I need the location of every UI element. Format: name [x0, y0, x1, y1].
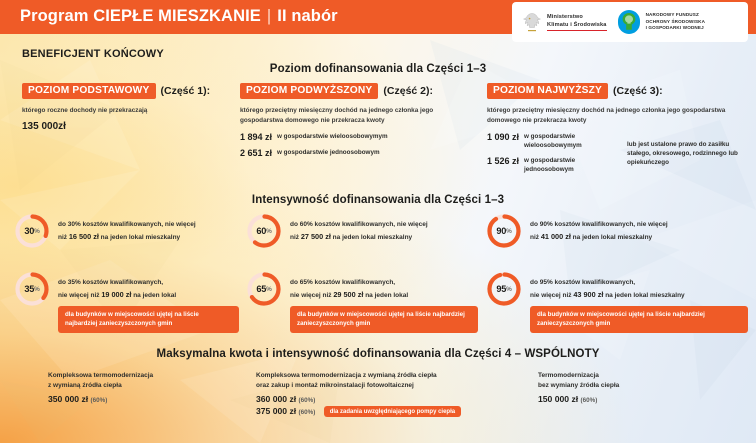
levels-heading: Poziom dofinansowania dla Części 1–3 — [0, 63, 756, 75]
intensity-item: 30% do 30% kosztów kwalifikowanych, nie … — [14, 213, 239, 249]
intensity-text: do 95% kosztów kwalifikowanych, nie więc… — [530, 271, 748, 333]
level-amount-value: 1 090 zł — [487, 132, 519, 142]
intensity-line-2-post: na jeden lokal mieszkalny — [571, 234, 652, 241]
level-amount-value: 1 526 zł — [487, 156, 519, 166]
part4-amount-value: 360 000 zł — [256, 394, 296, 404]
part4-amount-value: 150 000 zł — [538, 394, 578, 404]
part4-amount-row: 375 000 zł (60%) dla zadania uwzględniaj… — [256, 406, 496, 418]
intensity-line-2-post: na jeden lokal mieszkalny — [331, 234, 412, 241]
part4-block-2: Kompleksowa termomodernizacja z wymianą … — [256, 371, 496, 417]
ring-label: 90% — [486, 213, 522, 249]
logo-panel: Ministerstwo Klimatu i Środowiska NARODO… — [512, 2, 748, 42]
ring-label: 65% — [246, 271, 282, 307]
level-badge-raised: POZIOM PODWYŻSZONY — [240, 83, 378, 100]
part4-desc-line-2: z wymianą źródła ciepła — [48, 382, 122, 389]
ring-value: 90 — [496, 226, 506, 236]
part4-amount-percent: (60%) — [299, 397, 316, 404]
intensity-callout: dla budynków w miejscowości ujętej na li… — [58, 306, 239, 333]
ring-suffix: % — [266, 228, 271, 235]
ministry-logo-text: Ministerstwo Klimatu i Środowiska — [547, 13, 607, 32]
part4-amount-percent: (60%) — [91, 397, 108, 404]
nfosigw-line-1: NARODOWY FUNDUSZ — [646, 12, 706, 19]
part4-desc-line-2: oraz zakup i montaż mikroinstalacji foto… — [256, 382, 414, 389]
intensity-column-highest: 90% do 90% kosztów kwalifikowanych, nie … — [486, 213, 748, 333]
intensity-item: 60% do 60% kosztów kwalifikowanych, nie … — [246, 213, 478, 249]
ministry-line-1: Ministerstwo — [547, 13, 607, 21]
intensity-line-1: do 90% kosztów kwalifikowanych, nie więc… — [530, 221, 668, 228]
part4-amount-row: 350 000 zł (60%) — [48, 394, 238, 404]
part4-amount-value: 350 000 zł — [48, 394, 88, 404]
intensity-line-2-post: na jeden lokal mieszkalny — [603, 292, 684, 299]
ring-value: 30 — [24, 226, 34, 236]
ring-value: 60 — [256, 226, 266, 236]
intensity-amount: 43 900 zł — [573, 290, 603, 299]
nfosigw-line-3: I GOSPODARKI WODNEJ — [646, 25, 706, 32]
level-card-basic: POZIOM PODSTAWOWY(Część 1): którego rocz… — [22, 82, 237, 132]
ring-label: 95% — [486, 271, 522, 307]
intensity-line-2-post: na jeden lokal — [131, 292, 176, 299]
level-part-raised: (Część 2): — [383, 85, 433, 97]
level-amount-note: w gospodarstwie jednoosobowym — [277, 148, 380, 157]
part4-heading: Maksymalna kwota i intensywność dofinans… — [0, 348, 756, 360]
intensity-line-2-pre: nie więcej niż — [530, 292, 573, 299]
level-amount-note: w gospodarstwie jednoosobowym — [524, 156, 615, 174]
intensity-line-1: do 60% kosztów kwalifikowanych, nie więc… — [290, 221, 428, 228]
level-badge-highest: POZIOM NAJWYŻSZY — [487, 83, 608, 100]
ring-label: 60% — [246, 213, 282, 249]
intensity-item: 90% do 90% kosztów kwalifikowanych, nie … — [486, 213, 748, 249]
level-amount-basic: 135 000zł — [22, 121, 237, 132]
level-amount-value: 1 894 zł — [240, 132, 272, 142]
intensity-text: do 65% kosztów kwalifikowanych, nie więc… — [290, 271, 478, 333]
part4-amount-row: 150 000 zł (60%) — [538, 394, 728, 404]
ring-value: 65 — [256, 284, 266, 294]
ring-suffix: % — [34, 286, 39, 293]
level-part-basic: (Część 1): — [161, 85, 211, 97]
level-extra-highest: lub jest ustalone prawo do zasiłku stałe… — [627, 126, 749, 175]
progress-ring-90: 90% — [486, 213, 522, 249]
part4-desc: Kompleksowa termomodernizacja z wymianą … — [48, 371, 238, 392]
level-amount-row: 2 651 zł w gospodarstwie jednoosobowym — [240, 148, 472, 158]
intensity-amount: 27 500 zł — [301, 232, 331, 241]
level-part-highest: (Część 3): — [613, 85, 663, 97]
level-amount-row: 1 894 zł w gospodarstwie wieloosobowymym — [240, 132, 472, 142]
intensity-line-2-pre: niż — [58, 234, 69, 241]
level-card-raised: POZIOM PODWYŻSZONY(Część 2): którego prz… — [240, 82, 472, 158]
intensity-line-2-post: na jeden lokal — [363, 292, 408, 299]
intensity-amount: 16 500 zł — [69, 232, 99, 241]
level-lede-highest: którego przeciętny miesięczny dochód na … — [487, 106, 749, 126]
part4-desc-line-1: Kompleksowa termomodernizacja z wymianą … — [256, 372, 437, 379]
nfosigw-logo-text: NARODOWY FUNDUSZ OCHRONY ŚRODOWISKA I GO… — [646, 12, 706, 32]
progress-ring-60: 60% — [246, 213, 282, 249]
ring-label: 35% — [14, 271, 50, 307]
part4-desc: Termomodernizacja bez wymiany źródła cie… — [538, 371, 728, 392]
nfosigw-logo-unit: NARODOWY FUNDUSZ OCHRONY ŚRODOWISKA I GO… — [617, 9, 706, 35]
page-title-suffix: II nabór — [277, 7, 337, 25]
part4-desc-line-1: Kompleksowa termomodernizacja — [48, 372, 153, 379]
part4-block-1: Kompleksowa termomodernizacja z wymianą … — [48, 371, 238, 404]
intensity-line-1: do 65% kosztów kwalifikowanych, — [290, 279, 395, 286]
progress-ring-35: 35% — [14, 271, 50, 307]
ministry-logo-unit: Ministerstwo Klimatu i Środowiska — [522, 11, 607, 33]
ring-label: 30% — [14, 213, 50, 249]
intensity-item: 65% do 65% kosztów kwalifikowanych, nie … — [246, 271, 478, 333]
level-amount-note: w gospodarstwie wieloosobowymym — [277, 132, 388, 141]
intensity-amount: 41 000 zł — [541, 232, 571, 241]
beneficiary-heading: BENEFICJENT KOŃCOWY — [22, 48, 164, 60]
part4-amount-tag: dla zadania uwzględniającego pompy ciepł… — [324, 406, 461, 417]
intensity-text: do 35% kosztów kwalifikowanych, nie więc… — [58, 271, 239, 333]
part4-desc: Kompleksowa termomodernizacja z wymianą … — [256, 371, 496, 392]
page-title-main: Program CIEPŁE MIESZKANIE — [20, 7, 261, 25]
level-card-highest: POZIOM NAJWYŻSZY(Część 3): którego przec… — [487, 82, 749, 174]
nfosigw-tree-icon — [617, 9, 641, 35]
progress-ring-30: 30% — [14, 213, 50, 249]
intensity-heading: Intensywność dofinansowania dla Części 1… — [0, 194, 756, 206]
intensity-line-2-pre: nie więcej niż — [290, 292, 333, 299]
progress-ring-65: 65% — [246, 271, 282, 307]
intensity-line-2-post: na jeden lokal mieszkalny — [99, 234, 180, 241]
intensity-text: do 60% kosztów kwalifikowanych, nie więc… — [290, 213, 428, 243]
intensity-line-2-pre: nie więcej niż — [58, 292, 101, 299]
intensity-callout: dla budynków w miejscowości ujętej na li… — [530, 306, 748, 333]
level-badge-basic: POZIOM PODSTAWOWY — [22, 83, 156, 100]
level-amount-row: 1 526 zł w gospodarstwie jednoosobowym — [487, 156, 615, 174]
polish-eagle-icon — [522, 11, 542, 33]
ministry-line-2: Klimatu i Środowiska — [547, 21, 607, 29]
intensity-line-2-pre: niż — [290, 234, 301, 241]
intensity-amount: 29 500 zł — [333, 290, 363, 299]
ring-value: 35 — [24, 284, 34, 294]
level-lede-basic: którego roczne dochody nie przekraczają — [22, 106, 237, 116]
part4-block-3: Termomodernizacja bez wymiany źródła cie… — [538, 371, 728, 404]
part4-desc-line-2: bez wymiany źródła ciepła — [538, 382, 619, 389]
ring-value: 95 — [496, 284, 506, 294]
intensity-column-raised: 60% do 60% kosztów kwalifikowanych, nie … — [246, 213, 478, 333]
level-amount-note: w gospodarstwie wieloosobowymym — [524, 132, 615, 150]
part4-desc-line-1: Termomodernizacja — [538, 372, 599, 379]
title-separator: | — [261, 7, 277, 26]
intensity-item: 95% do 95% kosztów kwalifikowanych, nie … — [486, 271, 748, 333]
ring-suffix: % — [506, 228, 511, 235]
ring-suffix: % — [266, 286, 271, 293]
ring-suffix: % — [506, 286, 511, 293]
part4-amount-percent: (60%) — [299, 409, 316, 416]
infographic-poster: Program CIEPŁE MIESZKANIE|II nabór Minis… — [0, 0, 756, 443]
level-lede-raised: którego przeciętny miesięczny dochód na … — [240, 106, 472, 126]
ring-suffix: % — [34, 228, 39, 235]
intensity-item: 35% do 35% kosztów kwalifikowanych, nie … — [14, 271, 239, 333]
intensity-line-2-pre: niż — [530, 234, 541, 241]
part4-amount-row: 360 000 zł (60%) — [256, 394, 496, 404]
ministry-logo-rule — [547, 30, 607, 31]
intensity-line-1: do 95% kosztów kwalifikowanych, — [530, 279, 635, 286]
intensity-callout: dla budynków w miejscowości ujętej na li… — [290, 306, 478, 333]
intensity-amount: 19 000 zł — [101, 290, 131, 299]
level-amount-value: 2 651 zł — [240, 148, 272, 158]
intensity-line-1: do 30% kosztów kwalifikowanych, nie więc… — [58, 221, 196, 228]
intensity-text: do 90% kosztów kwalifikowanych, nie więc… — [530, 213, 668, 243]
page-title: Program CIEPŁE MIESZKANIE|II nabór — [20, 7, 338, 26]
progress-ring-95: 95% — [486, 271, 522, 307]
nfosigw-line-2: OCHRONY ŚRODOWISKA — [646, 19, 706, 26]
part4-amount-value: 375 000 zł — [256, 406, 296, 416]
part4-amount-percent: (60%) — [581, 397, 598, 404]
intensity-column-basic: 30% do 30% kosztów kwalifikowanych, nie … — [14, 213, 239, 333]
intensity-text: do 30% kosztów kwalifikowanych, nie więc… — [58, 213, 196, 243]
level-amount-row: 1 090 zł w gospodarstwie wieloosobowymym — [487, 132, 615, 150]
intensity-line-1: do 35% kosztów kwalifikowanych, — [58, 279, 163, 286]
